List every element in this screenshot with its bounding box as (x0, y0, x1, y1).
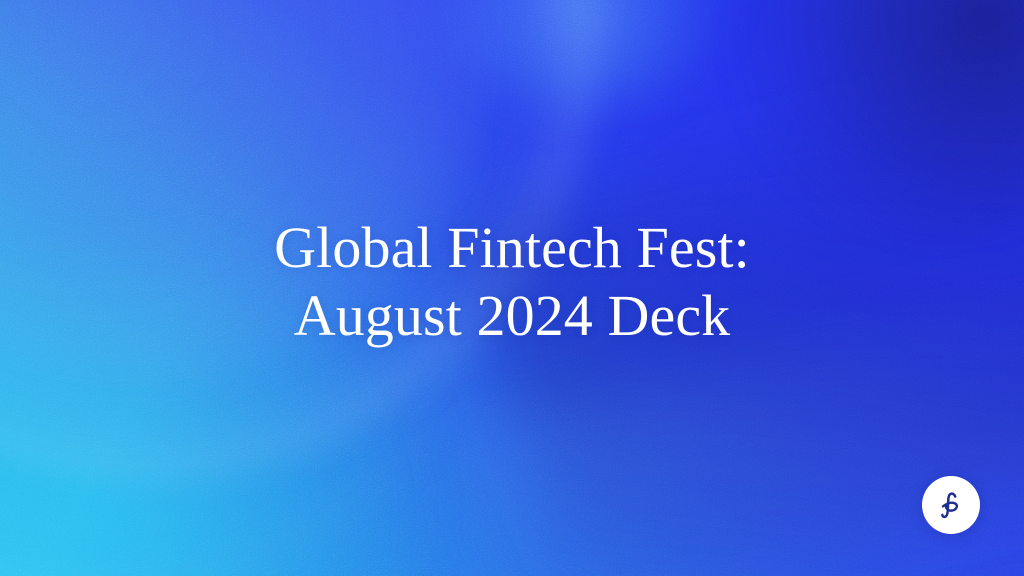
title-slide: Global Fintech Fest: August 2024 Deck (0, 0, 1024, 576)
script-f-logo-icon (934, 488, 968, 522)
title-line-1: Global Fintech Fest: (0, 214, 1024, 282)
title-line-2: August 2024 Deck (0, 282, 1024, 350)
logo-badge[interactable] (922, 476, 980, 534)
slide-title: Global Fintech Fest: August 2024 Deck (0, 214, 1024, 350)
